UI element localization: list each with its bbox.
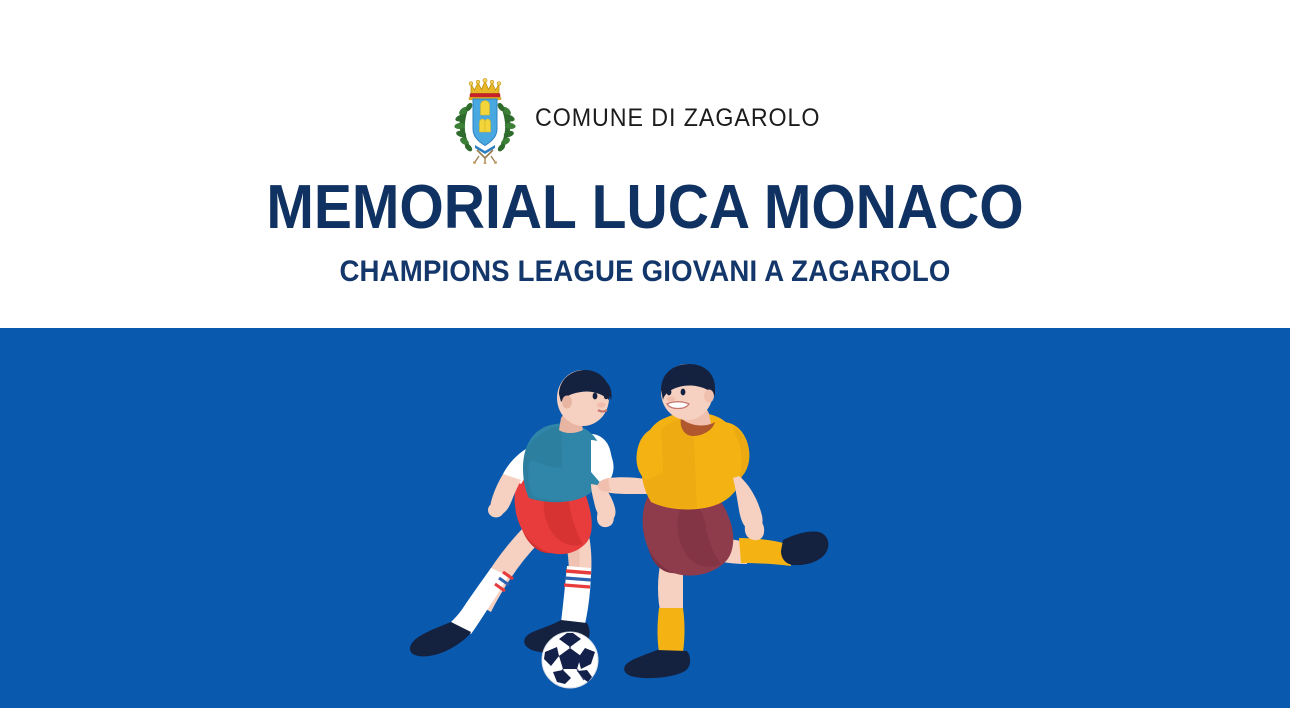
page-title: MEMORIAL LUCA MONACO bbox=[52, 176, 1239, 239]
player-yellow-jersey-illustration bbox=[598, 364, 829, 678]
two-soccer-players-illustration bbox=[395, 360, 895, 700]
soccer-ball-icon bbox=[542, 632, 598, 688]
logo-row: COMUNE DI ZAGAROLO bbox=[0, 72, 1290, 164]
zagarolo-coat-of-arms-icon bbox=[449, 72, 521, 164]
player-blue-jersey-illustration bbox=[410, 370, 616, 656]
header-band: COMUNE DI ZAGAROLO MEMORIAL LUCA MONACO … bbox=[0, 0, 1290, 328]
organization-name: COMUNE DI ZAGAROLO bbox=[535, 106, 820, 131]
poster-canvas: COMUNE DI ZAGAROLO MEMORIAL LUCA MONACO … bbox=[0, 0, 1290, 708]
hero-band bbox=[0, 328, 1290, 708]
page-subtitle: CHAMPIONS LEAGUE GIOVANI A ZAGAROLO bbox=[52, 256, 1239, 288]
